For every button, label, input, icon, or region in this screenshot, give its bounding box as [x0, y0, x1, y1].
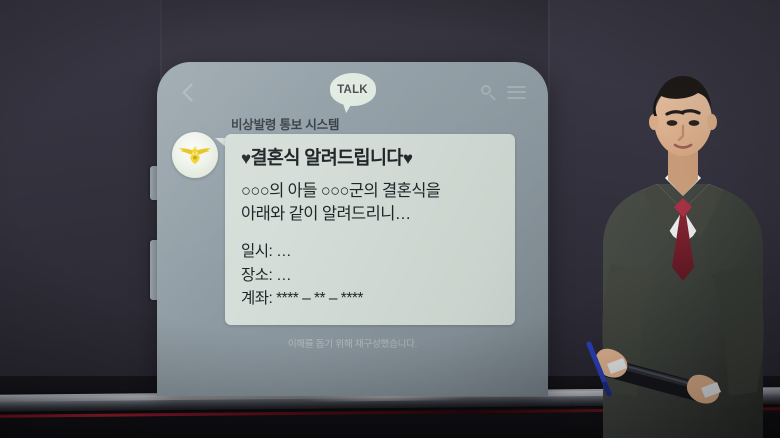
scene-vignette	[0, 0, 780, 438]
broadcast-screenshot: TALK 비상발령 통보 시스템	[0, 0, 780, 438]
